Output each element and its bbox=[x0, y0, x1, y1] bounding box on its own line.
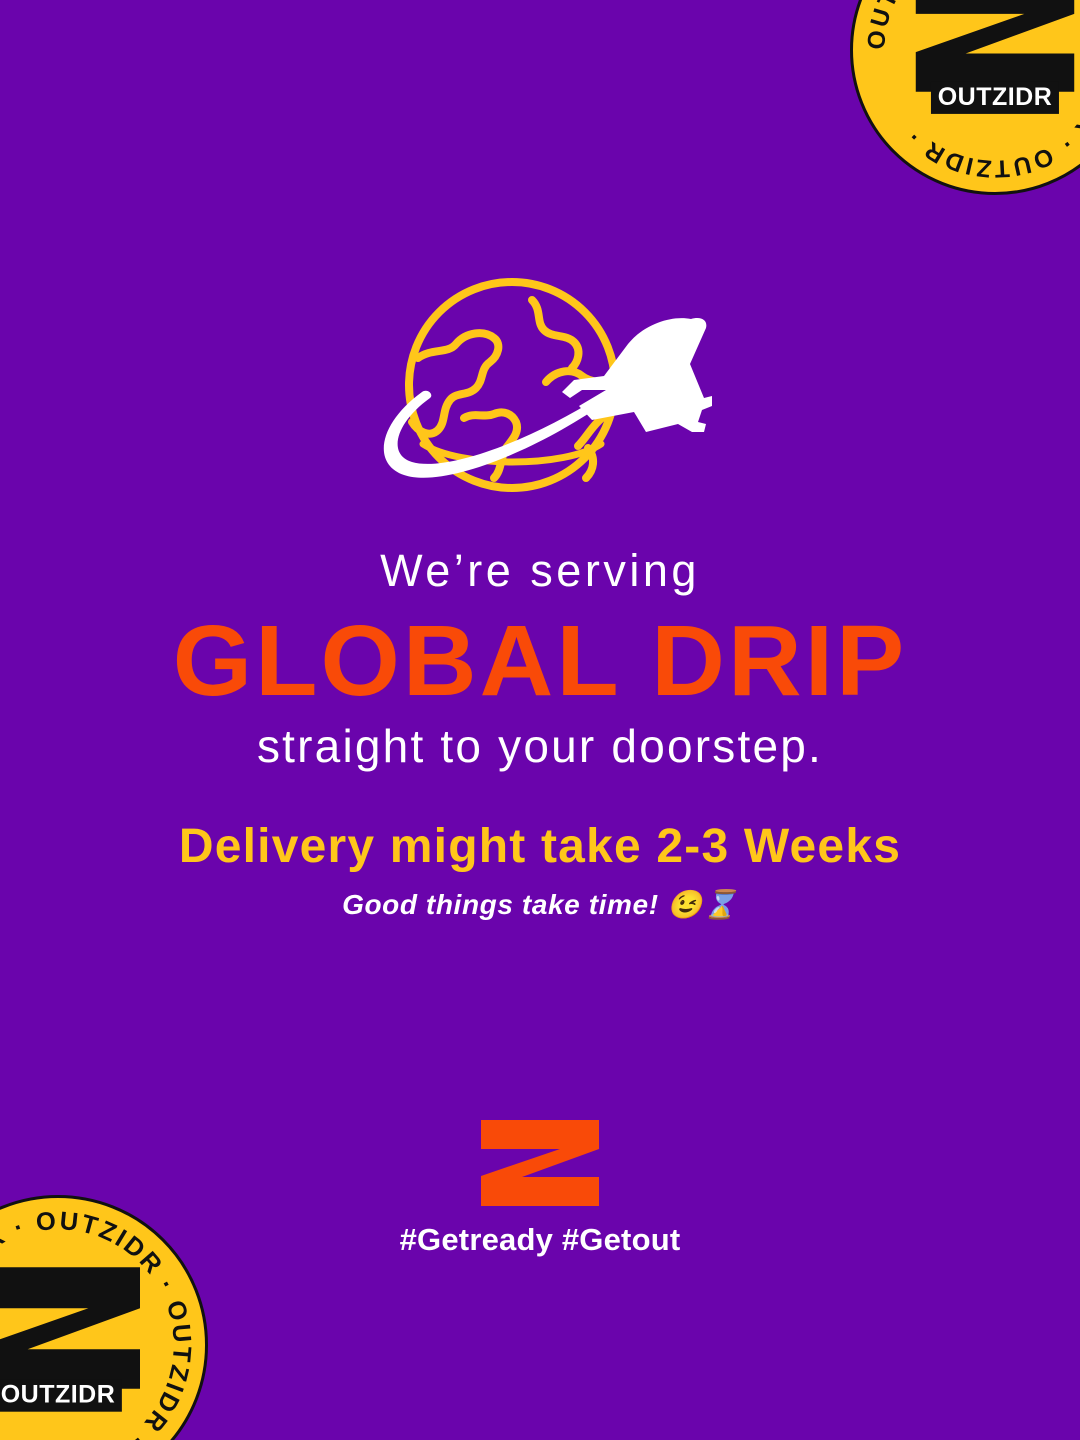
outzidr-badge-top-right: OUTZIDR · OUTZIDR · OUTZIDR · OUTZIDR · … bbox=[850, 0, 1080, 195]
tagline-text: #Getready #Getout bbox=[400, 1224, 681, 1255]
globe-airplane-icon bbox=[360, 272, 720, 507]
poster-canvas: OUTZIDR · OUTZIDR · OUTZIDR · OUTZIDR · … bbox=[0, 0, 1080, 1440]
delivery-note-text: Good things take time! 😉⌛ bbox=[30, 890, 1050, 921]
footer-block: #Getready #Getout bbox=[0, 1118, 1080, 1255]
eyebrow-text: We’re serving bbox=[40, 548, 1040, 593]
hero-illustration bbox=[0, 272, 1080, 507]
badge-core: OUTZIDR bbox=[907, 0, 1080, 130]
badge-wordmark: OUTZIDR bbox=[0, 1379, 122, 1411]
badge-wordmark: OUTZIDR bbox=[931, 82, 1060, 114]
delivery-time-text: Delivery might take 2-3 Weeks bbox=[30, 822, 1050, 872]
headline-text: GLOBAL DRIP bbox=[30, 611, 1050, 711]
z-logo-icon bbox=[0, 1263, 149, 1394]
delivery-block: Delivery might take 2-3 Weeks Good thing… bbox=[0, 822, 1080, 921]
badge-core: OUTZIDR bbox=[0, 1263, 149, 1428]
headline-block: We’re serving GLOBAL DRIP straight to yo… bbox=[0, 548, 1080, 769]
subline-text: straight to your doorstep. bbox=[40, 723, 1040, 769]
z-logo-icon bbox=[478, 1118, 602, 1208]
